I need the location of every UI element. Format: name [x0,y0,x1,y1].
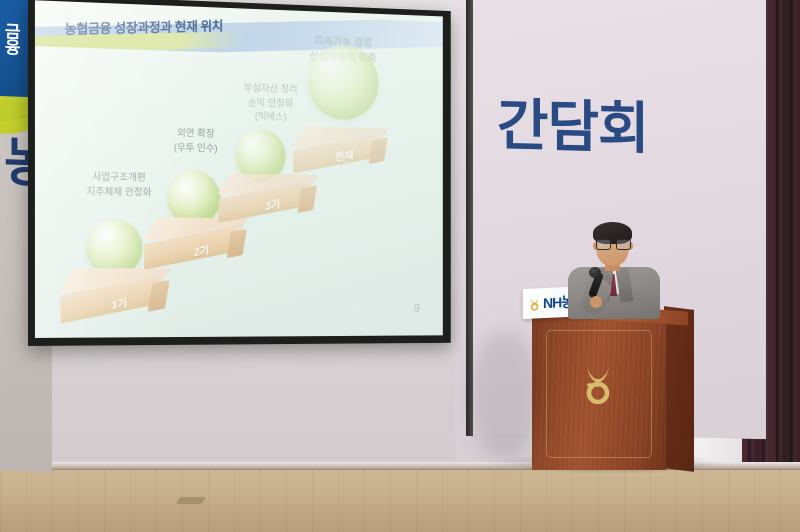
nonghyup-mark-icon [529,296,540,310]
floor [0,470,800,532]
screenshot-stage: 금융 농 간담회 농협금융 성장과정과 현재 위치 사업구조개편 지주체제 안정… [0,0,800,532]
step-2-label: 2기 [194,242,209,260]
step-1-caption: 사업구조개편 지주체제 안정화 [61,171,177,201]
step-4-label: 현재 [335,147,353,165]
floor-marker [176,497,206,504]
speaker-glasses [596,239,629,248]
speaker-hand [590,296,602,308]
step-1-label: 1기 [111,295,127,314]
slide-title: 농협금융 성장과정과 현재 위치 [65,15,223,38]
banner-top-text: 금융 [2,22,18,55]
microphone-head [589,267,601,278]
step-1-block: 1기 [67,268,164,314]
screen-surface: 농협금융 성장과정과 현재 위치 사업구조개편 지주체제 안정화 1기 외연 확 [35,0,443,338]
step-4-block: 현재 [299,126,383,166]
ambient-shadow [470,330,540,460]
slide-page-number: 9 [414,301,420,314]
backdrop-right-title: 간담회 [497,80,649,165]
step-3-block: 3기 [224,173,311,215]
nonghyup-emblem-icon [581,364,615,404]
projection-screen: 농협금융 성장과정과 현재 위치 사업구조개편 지주체제 안정화 1기 외연 확 [28,0,451,346]
step-3-label: 3기 [265,196,280,214]
step-2-caption: 외연 확장 (우투 인수) [140,127,250,158]
speaker-person [562,222,682,318]
step-2-block: 2기 [150,217,241,261]
podium-side [664,306,694,472]
podium [520,300,692,470]
